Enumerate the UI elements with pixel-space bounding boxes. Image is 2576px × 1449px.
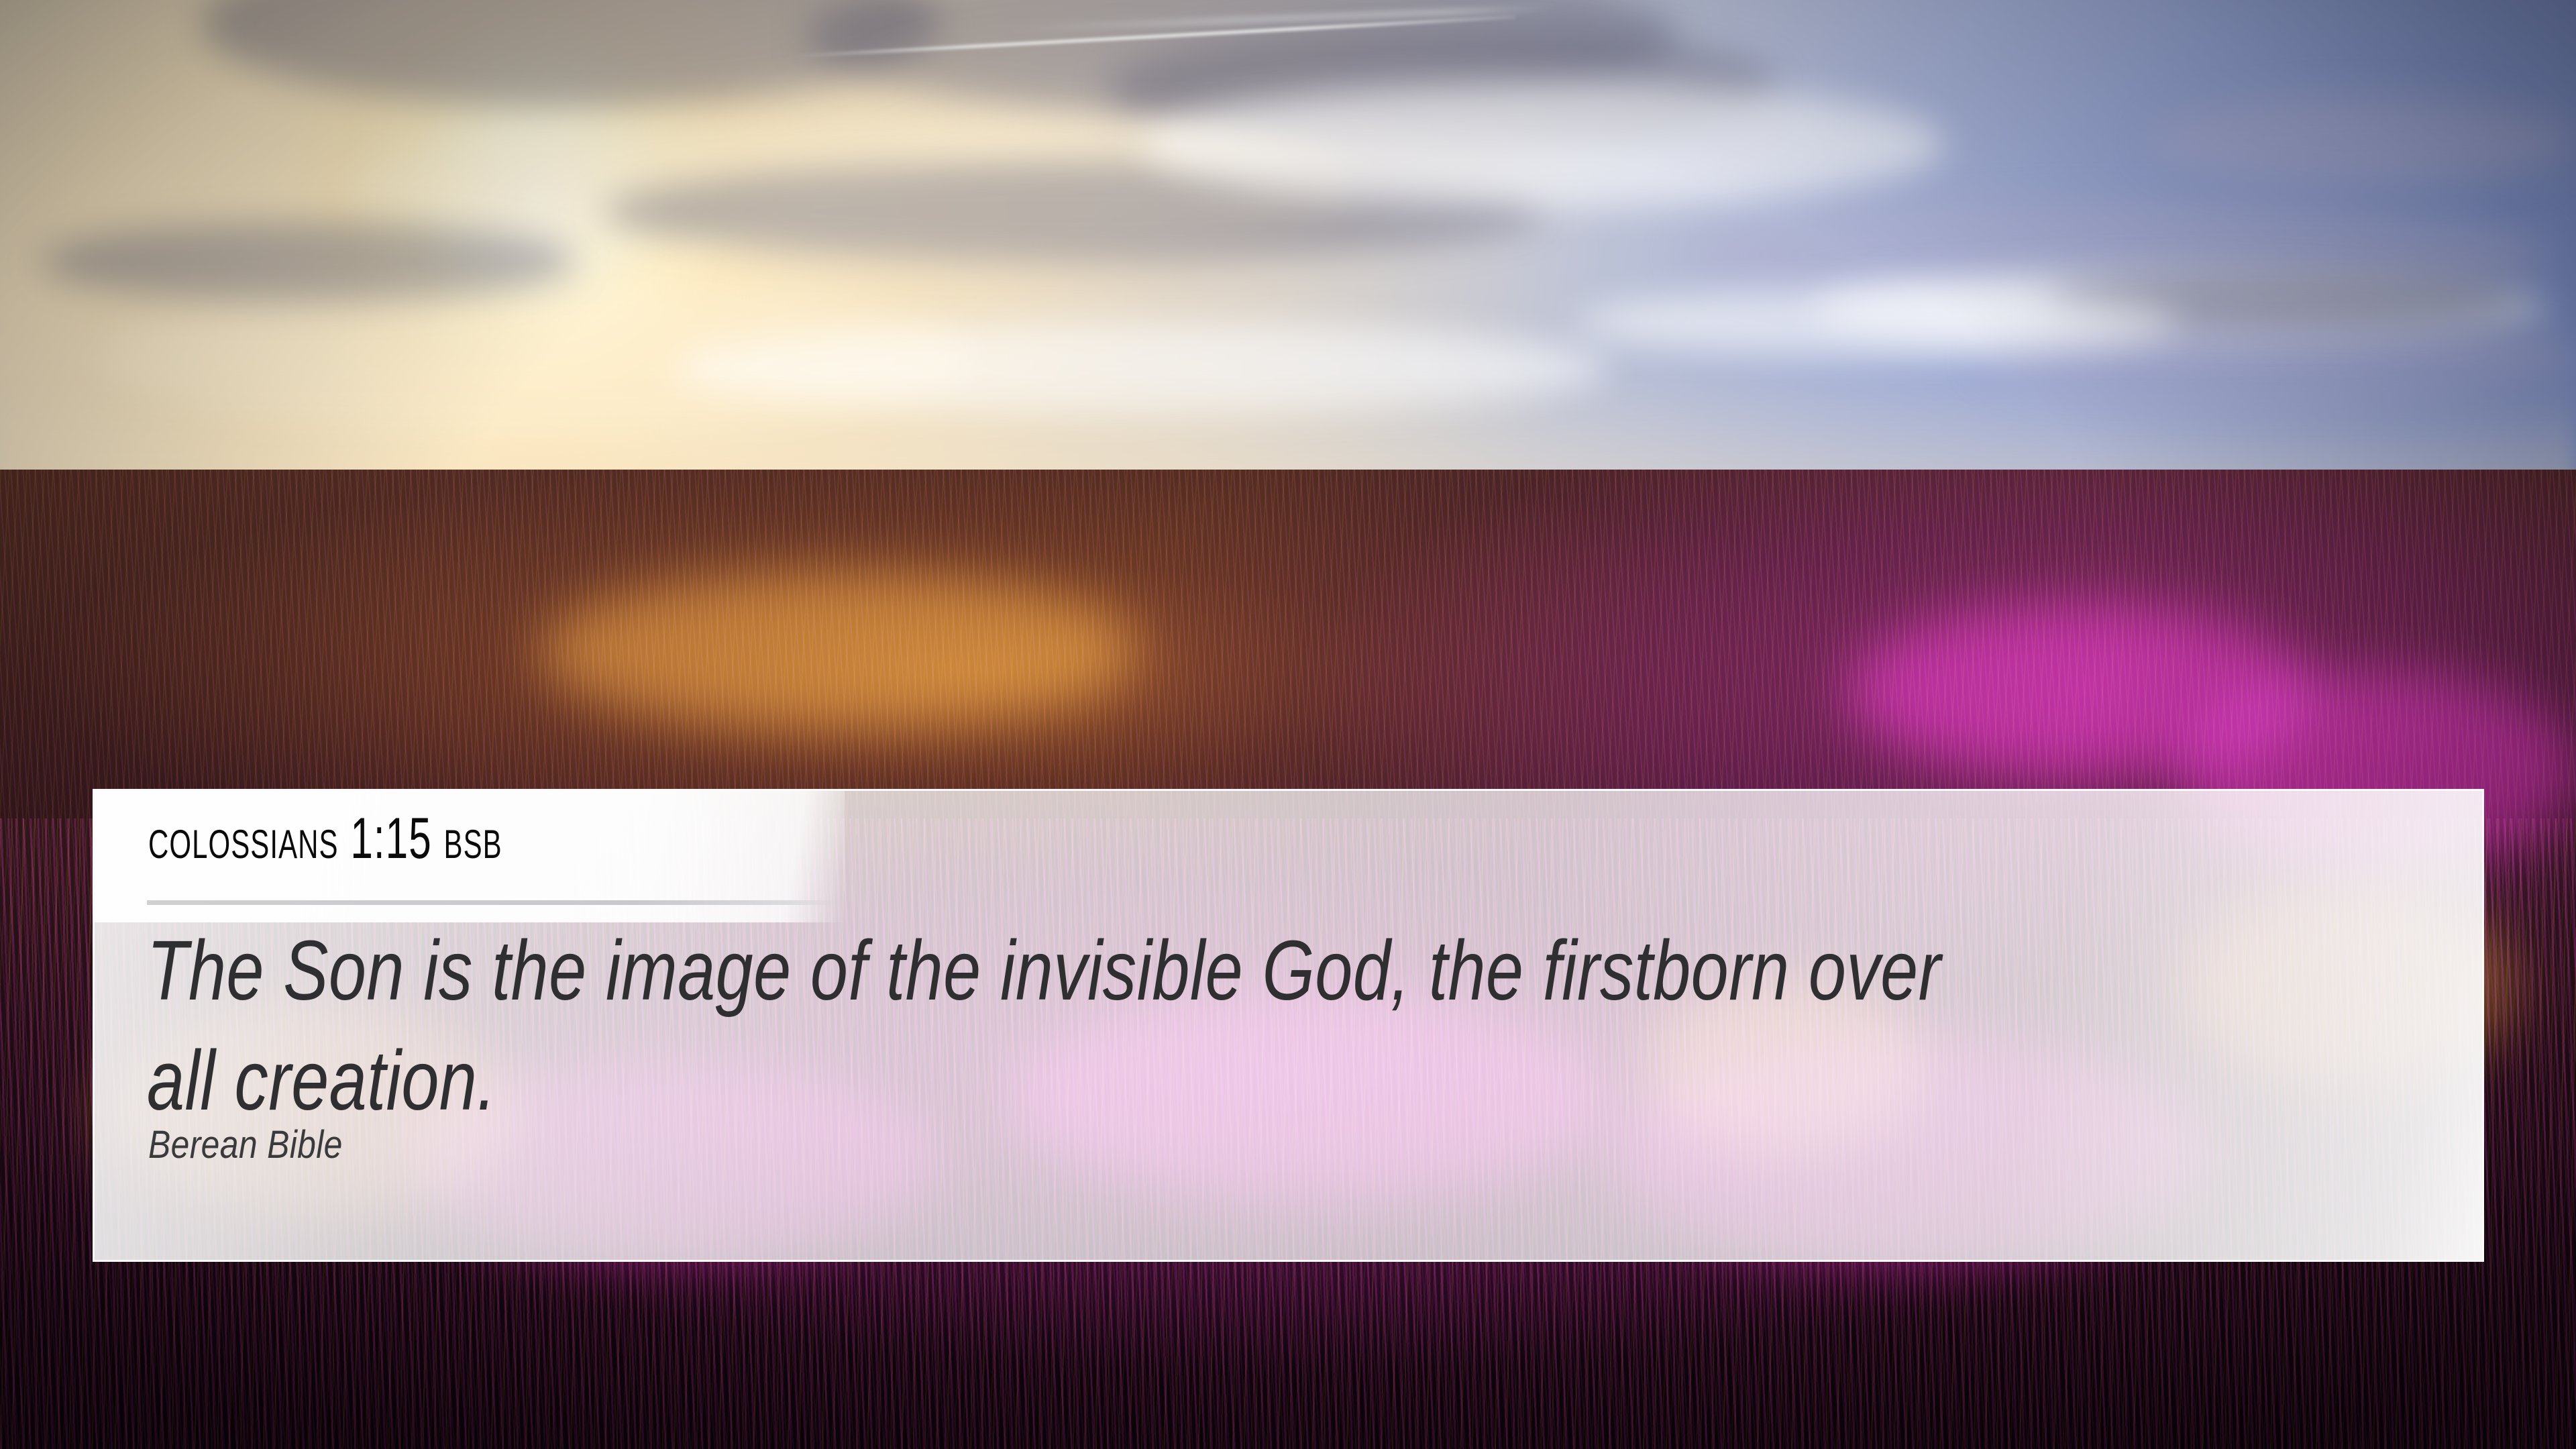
verse-text: The Son is the image of the invisible Go… [147, 916, 1998, 1136]
verse-source: Berean Bible [148, 1122, 343, 1167]
reference-underline [147, 900, 845, 905]
wallpaper-canvas: Colossians 1:15 BSB The Son is the image… [0, 0, 2576, 1449]
verse-reference: Colossians 1:15 BSB [148, 810, 502, 869]
sunlit-grass-patch [537, 570, 1140, 731]
verse-card: Colossians 1:15 BSB The Son is the image… [93, 789, 2484, 1262]
